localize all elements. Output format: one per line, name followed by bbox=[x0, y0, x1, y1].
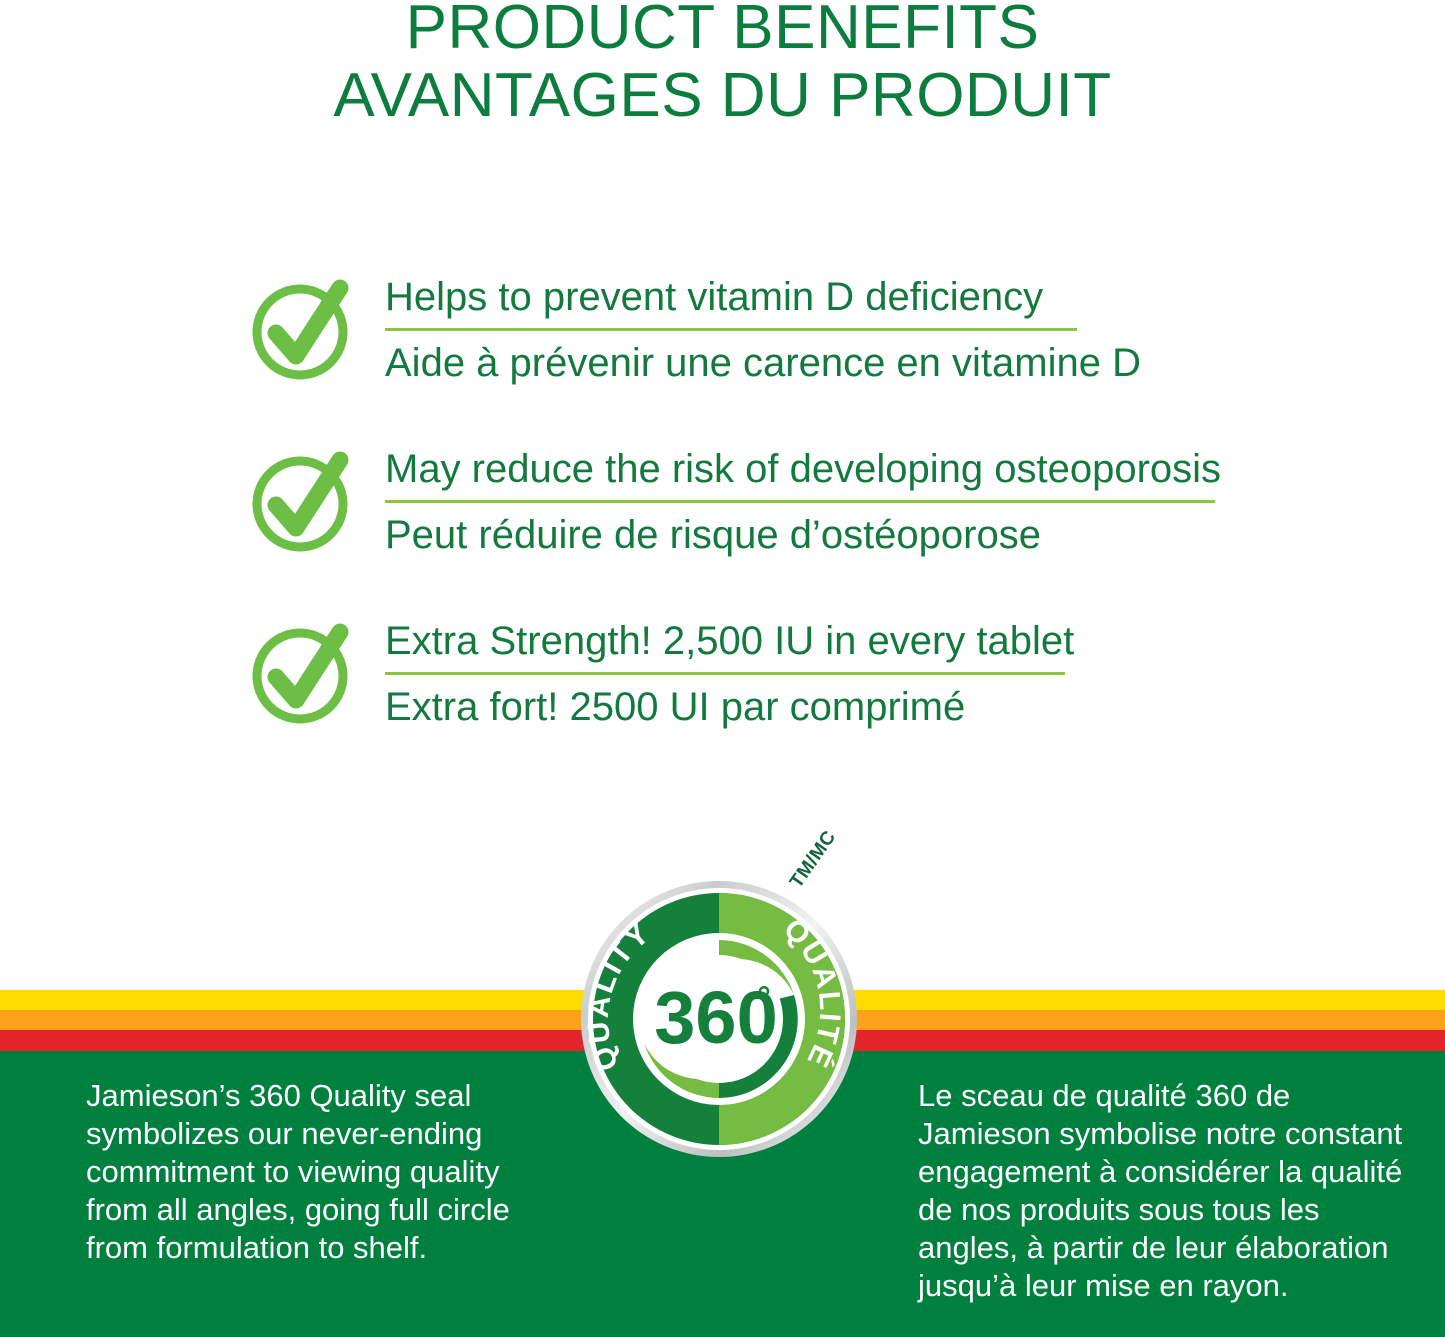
check-circle-icon bbox=[248, 450, 352, 554]
benefit-text: Helps to prevent vitamin D deficiency Ai… bbox=[385, 272, 1445, 388]
benefit-text: May reduce the risk of developing osteop… bbox=[385, 444, 1445, 560]
benefit-text-fr: Aide à prévenir une carence en vitamine … bbox=[385, 338, 1405, 388]
benefit-divider bbox=[385, 500, 1215, 503]
page-title-fr: AVANTAGES DU PRODUIT bbox=[0, 62, 1445, 130]
benefit-text-en: Extra Strength! 2,500 IU in every tablet bbox=[385, 616, 1405, 666]
check-circle-icon bbox=[248, 622, 352, 726]
check-circle-icon bbox=[248, 278, 352, 382]
seal-description-fr: Le sceau de qualité 360 de Jamieson symb… bbox=[918, 1077, 1408, 1305]
benefit-text-fr: Extra fort! 2500 UI par comprimé bbox=[385, 682, 1405, 732]
benefit-divider bbox=[385, 328, 1077, 331]
benefit-text-en: Helps to prevent vitamin D deficiency bbox=[385, 272, 1405, 322]
product-benefits-panel: PRODUCT BENEFITS AVANTAGES DU PRODUIT He… bbox=[0, 0, 1445, 1337]
benefit-text-en: May reduce the risk of developing osteop… bbox=[385, 444, 1405, 494]
quality-360-seal-icon: 360 ° QUALITY QUALITÉ bbox=[578, 878, 860, 1160]
seal-degree-symbol: ° bbox=[757, 980, 771, 1018]
benefit-item: Helps to prevent vitamin D deficiency Ai… bbox=[0, 272, 1445, 392]
benefit-item: Extra Strength! 2,500 IU in every tablet… bbox=[0, 616, 1445, 736]
page-title: PRODUCT BENEFITS AVANTAGES DU PRODUIT bbox=[0, 0, 1445, 130]
benefit-text-fr: Peut réduire de risque d’ostéoporose bbox=[385, 510, 1405, 560]
benefit-text: Extra Strength! 2,500 IU in every tablet… bbox=[385, 616, 1445, 732]
page-title-en: PRODUCT BENEFITS bbox=[0, 0, 1445, 62]
benefit-item: May reduce the risk of developing osteop… bbox=[0, 444, 1445, 564]
benefit-divider bbox=[385, 672, 1065, 675]
seal-description-en: Jamieson’s 360 Quality seal symbolizes o… bbox=[86, 1077, 556, 1267]
benefits-list: Helps to prevent vitamin D deficiency Ai… bbox=[0, 272, 1445, 788]
